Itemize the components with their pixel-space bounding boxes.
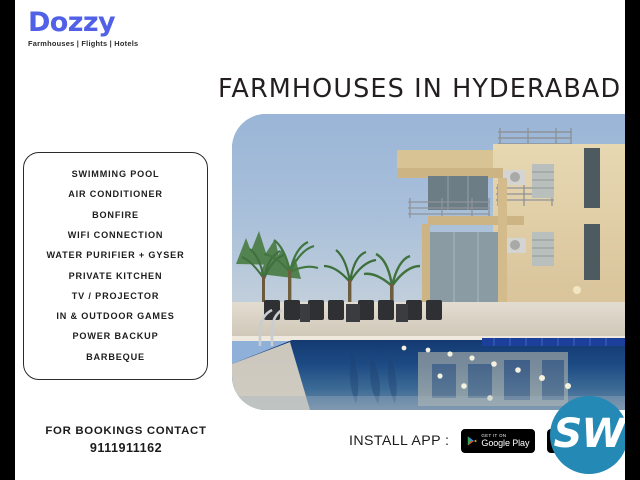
brand-tagline: Farmhouses | Flights | Hotels	[28, 39, 214, 48]
list-item: AIR CONDITIONER	[68, 190, 163, 199]
google-play-badge-bottom: Google Play	[481, 439, 529, 448]
list-item: BARBEQUE	[86, 353, 145, 362]
sw-watermark: SW	[550, 396, 625, 474]
list-item: SWIMMING POOL	[72, 170, 160, 179]
brand-wordmark: Dozzy	[28, 9, 214, 37]
bookings-phone[interactable]: 9111911162	[21, 441, 231, 455]
bookings-label: FOR BOOKINGS CONTACT	[21, 425, 231, 437]
sw-watermark-text: SW	[554, 414, 625, 454]
list-item: IN & OUTDOOR GAMES	[56, 312, 174, 321]
ad-stage: Dozzy Farmhouses | Flights | Hotels FARM…	[0, 0, 640, 480]
brand-logo[interactable]: Dozzy Farmhouses | Flights | Hotels	[24, 9, 214, 48]
list-item: TV / PROJECTOR	[72, 292, 160, 301]
google-play-badge[interactable]: GET IT ON Google Play	[461, 429, 535, 453]
ad-card: Dozzy Farmhouses | Flights | Hotels FARM…	[15, 0, 625, 480]
list-item: POWER BACKUP	[73, 332, 159, 341]
farmhouse-photo	[232, 114, 625, 410]
letterbox-left	[0, 0, 15, 480]
list-item: WIFI CONNECTION	[68, 231, 164, 240]
google-play-icon	[467, 434, 477, 448]
bookings-contact: FOR BOOKINGS CONTACT 9111911162	[21, 425, 231, 455]
list-item: PRIVATE KITCHEN	[69, 272, 163, 281]
amenities-list: SWIMMING POOL AIR CONDITIONER BONFIRE WI…	[23, 152, 208, 380]
list-item: WATER PURIFIER + GYSER	[46, 251, 184, 260]
letterbox-right	[625, 0, 640, 480]
page-title: FARMHOUSES IN HYDERABAD	[218, 74, 618, 104]
farmhouse-photo-illustration	[232, 114, 625, 410]
install-app-label: INSTALL APP :	[349, 433, 449, 449]
list-item: BONFIRE	[92, 211, 139, 220]
